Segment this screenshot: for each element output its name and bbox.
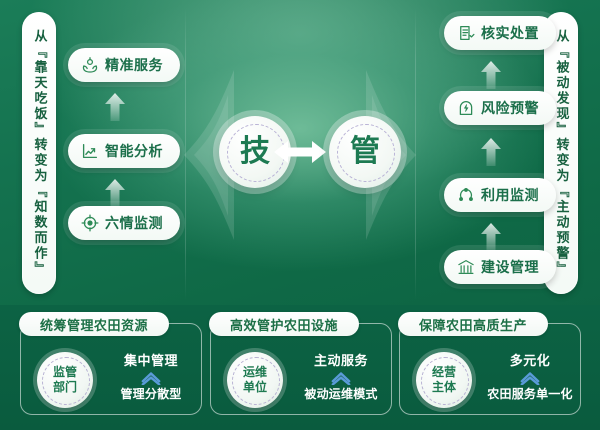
panel-target-state: 集中管理	[105, 354, 197, 370]
panel-farmland-resources: 统筹管理农田资源 监管 部门 集中管理 管理分散型	[20, 323, 202, 415]
card-label: 精准服务	[105, 55, 163, 75]
panel-role-label: 运维 单位	[243, 365, 267, 395]
panel-role-line1: 运维	[243, 365, 267, 379]
panel-role-line1: 监管	[53, 365, 77, 379]
panel-role-line2: 单位	[243, 380, 267, 394]
card-label: 核实处置	[481, 23, 539, 43]
panel-target-state: 多元化	[484, 354, 576, 370]
side-caption-left-text: 从『靠天吃饭』转变为『知数而作』	[33, 29, 46, 277]
side-caption-right-text: 从『被动发现』转变为『主动预警』	[555, 29, 568, 277]
card-risk-warning[interactable]: 风险预警	[444, 91, 556, 125]
panel-role-line2: 主体	[432, 380, 456, 394]
card-six-condition-monitoring[interactable]: 六情监测	[68, 206, 180, 240]
up-arrow-right-3	[480, 222, 502, 252]
panel-title: 保障农田高质生产	[398, 312, 548, 336]
up-arrow-right-1	[480, 60, 502, 90]
guide-line-right	[415, 8, 416, 300]
panel-quality-production: 保障农田高质生产 经营 主体 多元化 农田服务单一化	[399, 323, 581, 415]
card-label: 风险预警	[481, 98, 539, 118]
panel-current-state: 管理分散型	[105, 386, 197, 402]
alert-bolt-icon	[457, 99, 475, 117]
chevron-up-icon	[295, 370, 387, 386]
card-intelligent-analysis[interactable]: 智能分析	[68, 134, 180, 168]
panel-role-line2: 部门	[53, 380, 77, 394]
panel-transition: 多元化 农田服务单一化	[484, 354, 576, 402]
panel-role-label: 经营 主体	[432, 365, 456, 395]
chevron-up-icon	[105, 370, 197, 386]
card-label: 智能分析	[105, 141, 163, 161]
bottom-panels-area: 统筹管理农田资源 监管 部门 集中管理 管理分散型 高效管护农田设施	[0, 305, 600, 430]
panel-transition: 主动服务 被动运维模式	[295, 354, 387, 402]
panel-title: 高效管护农田设施	[209, 312, 359, 336]
infographic-canvas: 从『靠天吃饭』转变为『知数而作』 从『被动发现』转变为『主动预警』 精准服务	[0, 0, 600, 430]
card-precision-service[interactable]: 精准服务	[68, 48, 180, 82]
panel-role-circle: 运维 单位	[227, 352, 283, 408]
recycle-nodes-icon	[457, 186, 475, 204]
up-arrow-left-1	[104, 92, 126, 122]
card-verification-disposal[interactable]: 核实处置	[444, 16, 556, 50]
target-crosshair-icon	[81, 214, 99, 232]
panel-role-circle: 监管 部门	[37, 352, 93, 408]
up-arrow-left-2	[104, 178, 126, 208]
clipboard-check-icon	[457, 24, 475, 42]
panel-farmland-facilities: 高效管护农田设施 运维 单位 主动服务 被动运维模式	[210, 323, 392, 415]
panel-transition: 集中管理 管理分散型	[105, 354, 197, 402]
up-arrow-right-2	[480, 137, 502, 167]
panel-title: 统筹管理农田资源	[19, 312, 169, 336]
line-chart-icon	[81, 142, 99, 160]
panel-role-line1: 经营	[432, 365, 456, 379]
panel-current-state: 农田服务单一化	[484, 386, 576, 402]
side-caption-left: 从『靠天吃饭』转变为『知数而作』	[22, 12, 56, 294]
card-construction-management[interactable]: 建设管理	[444, 250, 556, 284]
card-label: 六情监测	[105, 213, 163, 233]
double-arrow-icon	[272, 137, 328, 167]
center-circle-management-label: 管	[350, 137, 380, 167]
panel-target-state: 主动服务	[295, 354, 387, 370]
top-diagram-area: 从『靠天吃饭』转变为『知数而作』 从『被动发现』转变为『主动预警』 精准服务	[0, 0, 600, 305]
panel-role-label: 监管 部门	[53, 365, 77, 395]
panel-current-state: 被动运维模式	[295, 386, 387, 402]
side-caption-right: 从『被动发现』转变为『主动预警』	[544, 12, 578, 294]
hands-sprout-icon	[81, 56, 99, 74]
guide-line-left	[185, 8, 186, 300]
center-circle-management: 管	[329, 116, 401, 188]
chevron-up-icon	[484, 370, 576, 386]
panel-role-circle: 经营 主体	[416, 352, 472, 408]
card-label: 利用监测	[481, 185, 539, 205]
card-utilization-monitoring[interactable]: 利用监测	[444, 178, 556, 212]
center-circle-tech-label: 技	[240, 137, 270, 167]
bank-building-icon	[457, 258, 475, 276]
card-label: 建设管理	[481, 257, 539, 277]
